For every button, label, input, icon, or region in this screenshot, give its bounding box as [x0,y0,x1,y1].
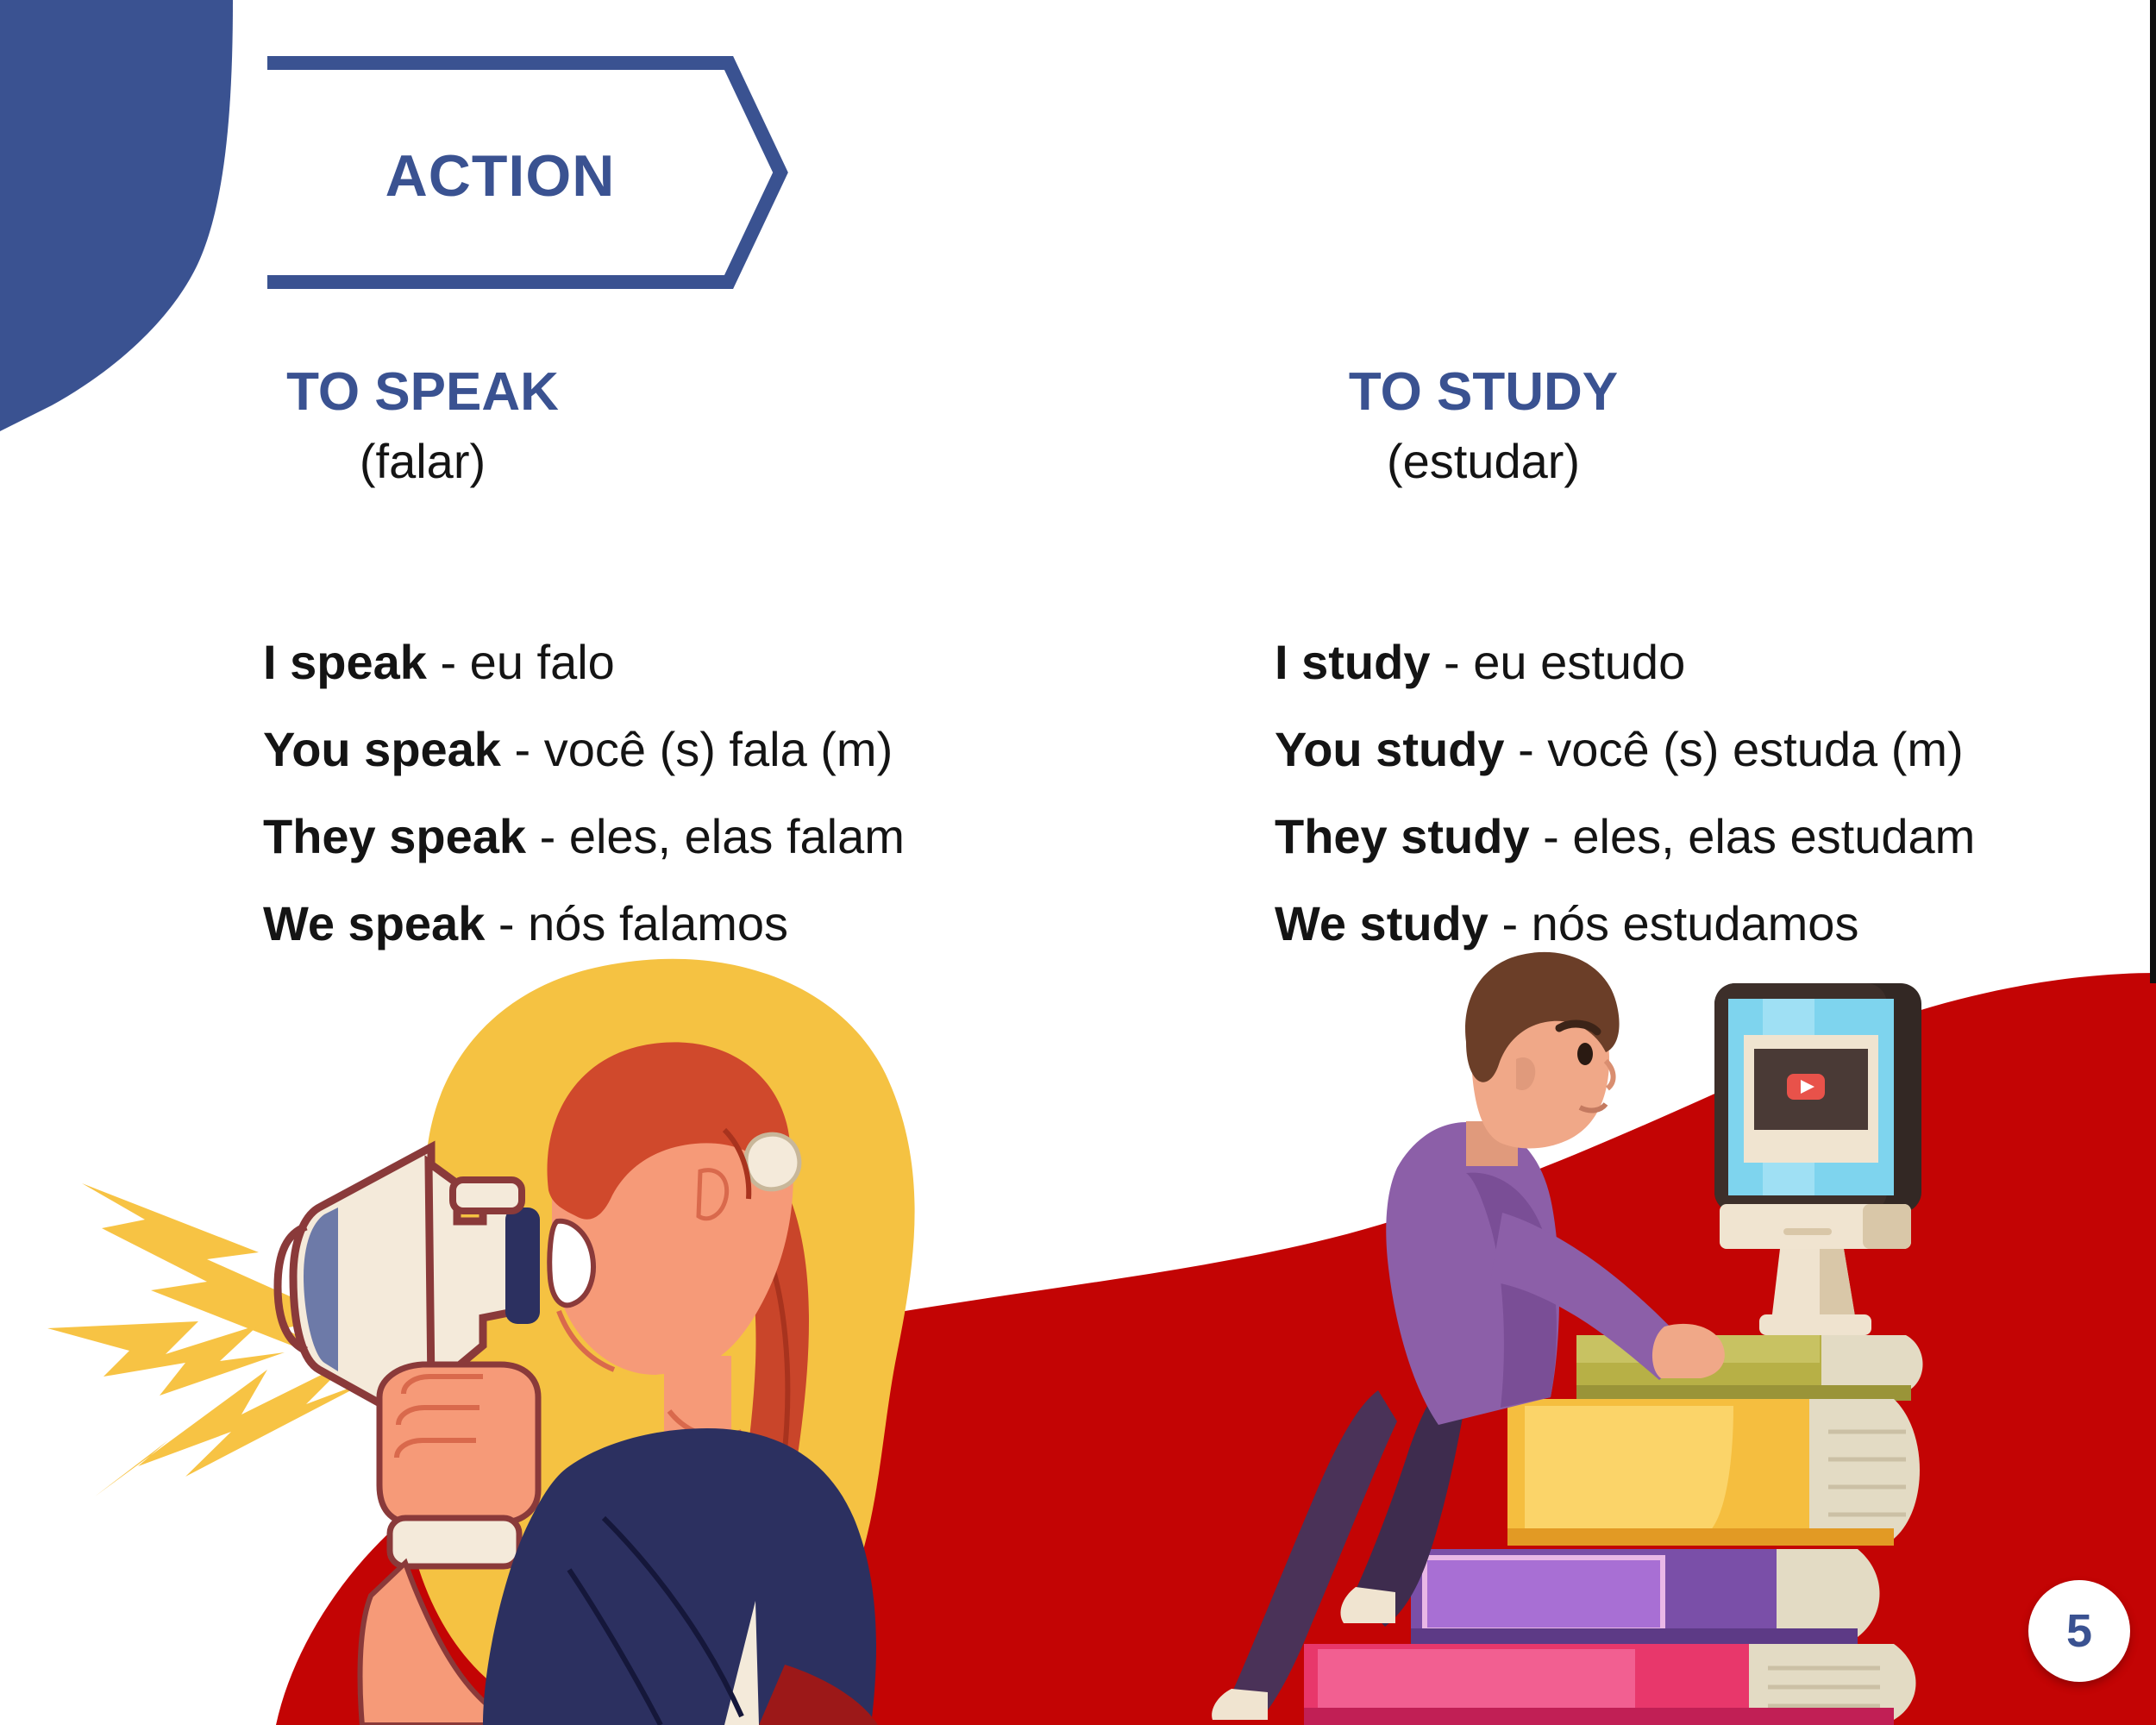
conjugation-separator: - [1530,809,1573,863]
conjugation-separator: - [526,809,569,863]
conjugation-item: I study - eu estudo [1275,638,1975,687]
conjugation-translation: eu estudo [1473,635,1685,689]
monitor-stand-foot [1759,1314,1871,1335]
conjugation-pronoun: We speak [263,896,485,950]
column-subtitle-study: (estudar) [1199,432,1768,490]
conjugation-separator: - [485,896,528,950]
conjugation-translation: você (s) fala (m) [544,722,893,776]
book-pink-gloss [1318,1649,1635,1713]
page-number-badge: 5 [2028,1580,2130,1682]
column-header-speak: TO SPEAK (falar) [138,362,707,491]
conjugation-separator: - [1430,635,1473,689]
book-purple-gloss [1425,1558,1663,1630]
conjugation-item: You speak - você (s) fala (m) [263,725,905,774]
page-number-label: 5 [2066,1604,2092,1658]
conjugation-translation: você (s) estuda (m) [1547,722,1963,776]
conjugation-pronoun: They study [1275,809,1530,863]
conjugation-item: They speak - eles, elas falam [263,812,905,861]
conjugation-translation: eu falo [470,635,615,689]
monitor-stand-shade [1820,1249,1856,1321]
column-subtitle-speak: (falar) [138,432,707,490]
column-title-speak: TO SPEAK [138,362,707,422]
conjugation-pronoun: We study [1275,896,1489,950]
book-olive-spine [1576,1385,1911,1401]
monitor-base-shade [1863,1204,1911,1249]
man-eye [1577,1043,1593,1065]
conjugation-item: You study - você (s) estuda (m) [1275,725,1975,774]
conjugation-pronoun: You study [1275,722,1505,776]
conjugation-item: We speak - nós falamos [263,900,905,948]
conjugation-list-speak: I speak - eu falo You speak - você (s) f… [263,638,905,987]
conjugation-separator: - [1489,896,1532,950]
desktop-monitor [1714,983,1921,1335]
man-shoe-front [1340,1587,1395,1623]
column-header-study: TO STUDY (estudar) [1199,362,1768,491]
man-shoe-back [1212,1689,1268,1720]
conjugation-translation: eles, elas falam [569,809,905,863]
conjugation-item: We study - nós estudamos [1275,900,1975,948]
conjugation-pronoun: You speak [263,722,501,776]
book-yellow-gloss [1525,1406,1733,1534]
conjugation-translation: nós estudamos [1532,896,1859,950]
conjugation-item: They study - eles, elas estudam [1275,812,1975,861]
slide-canvas: ACTION TO SPEAK (falar) I speak - eu fal… [0,0,2156,1725]
conjugation-translation: eles, elas estudam [1572,809,1975,863]
conjugation-separator: - [501,722,544,776]
action-badge: ACTION [259,47,793,298]
conjugation-pronoun: They speak [263,809,526,863]
conjugation-translation: nós falamos [528,896,788,950]
book-olive-pages [1821,1335,1923,1392]
conjugation-list-study: I study - eu estudo You study - você (s)… [1275,638,1975,987]
column-title-study: TO STUDY [1199,362,1768,422]
conjugation-item: I speak - eu falo [263,638,905,687]
book-yellow-spine [1507,1528,1894,1546]
monitor-power-line [1783,1228,1832,1235]
right-edge-rule [2150,0,2156,983]
book-pink-spine [1304,1708,1894,1725]
conjugation-separator: - [1505,722,1548,776]
conjugation-separator: - [427,635,470,689]
book-purple-spine [1411,1628,1858,1644]
book-yellow-pages [1809,1399,1920,1539]
action-badge-label: ACTION [259,142,742,210]
man-hand [1652,1324,1725,1378]
conjugation-pronoun: I study [1275,635,1430,689]
book-purple-pages [1777,1549,1880,1637]
conjugation-pronoun: I speak [263,635,427,689]
